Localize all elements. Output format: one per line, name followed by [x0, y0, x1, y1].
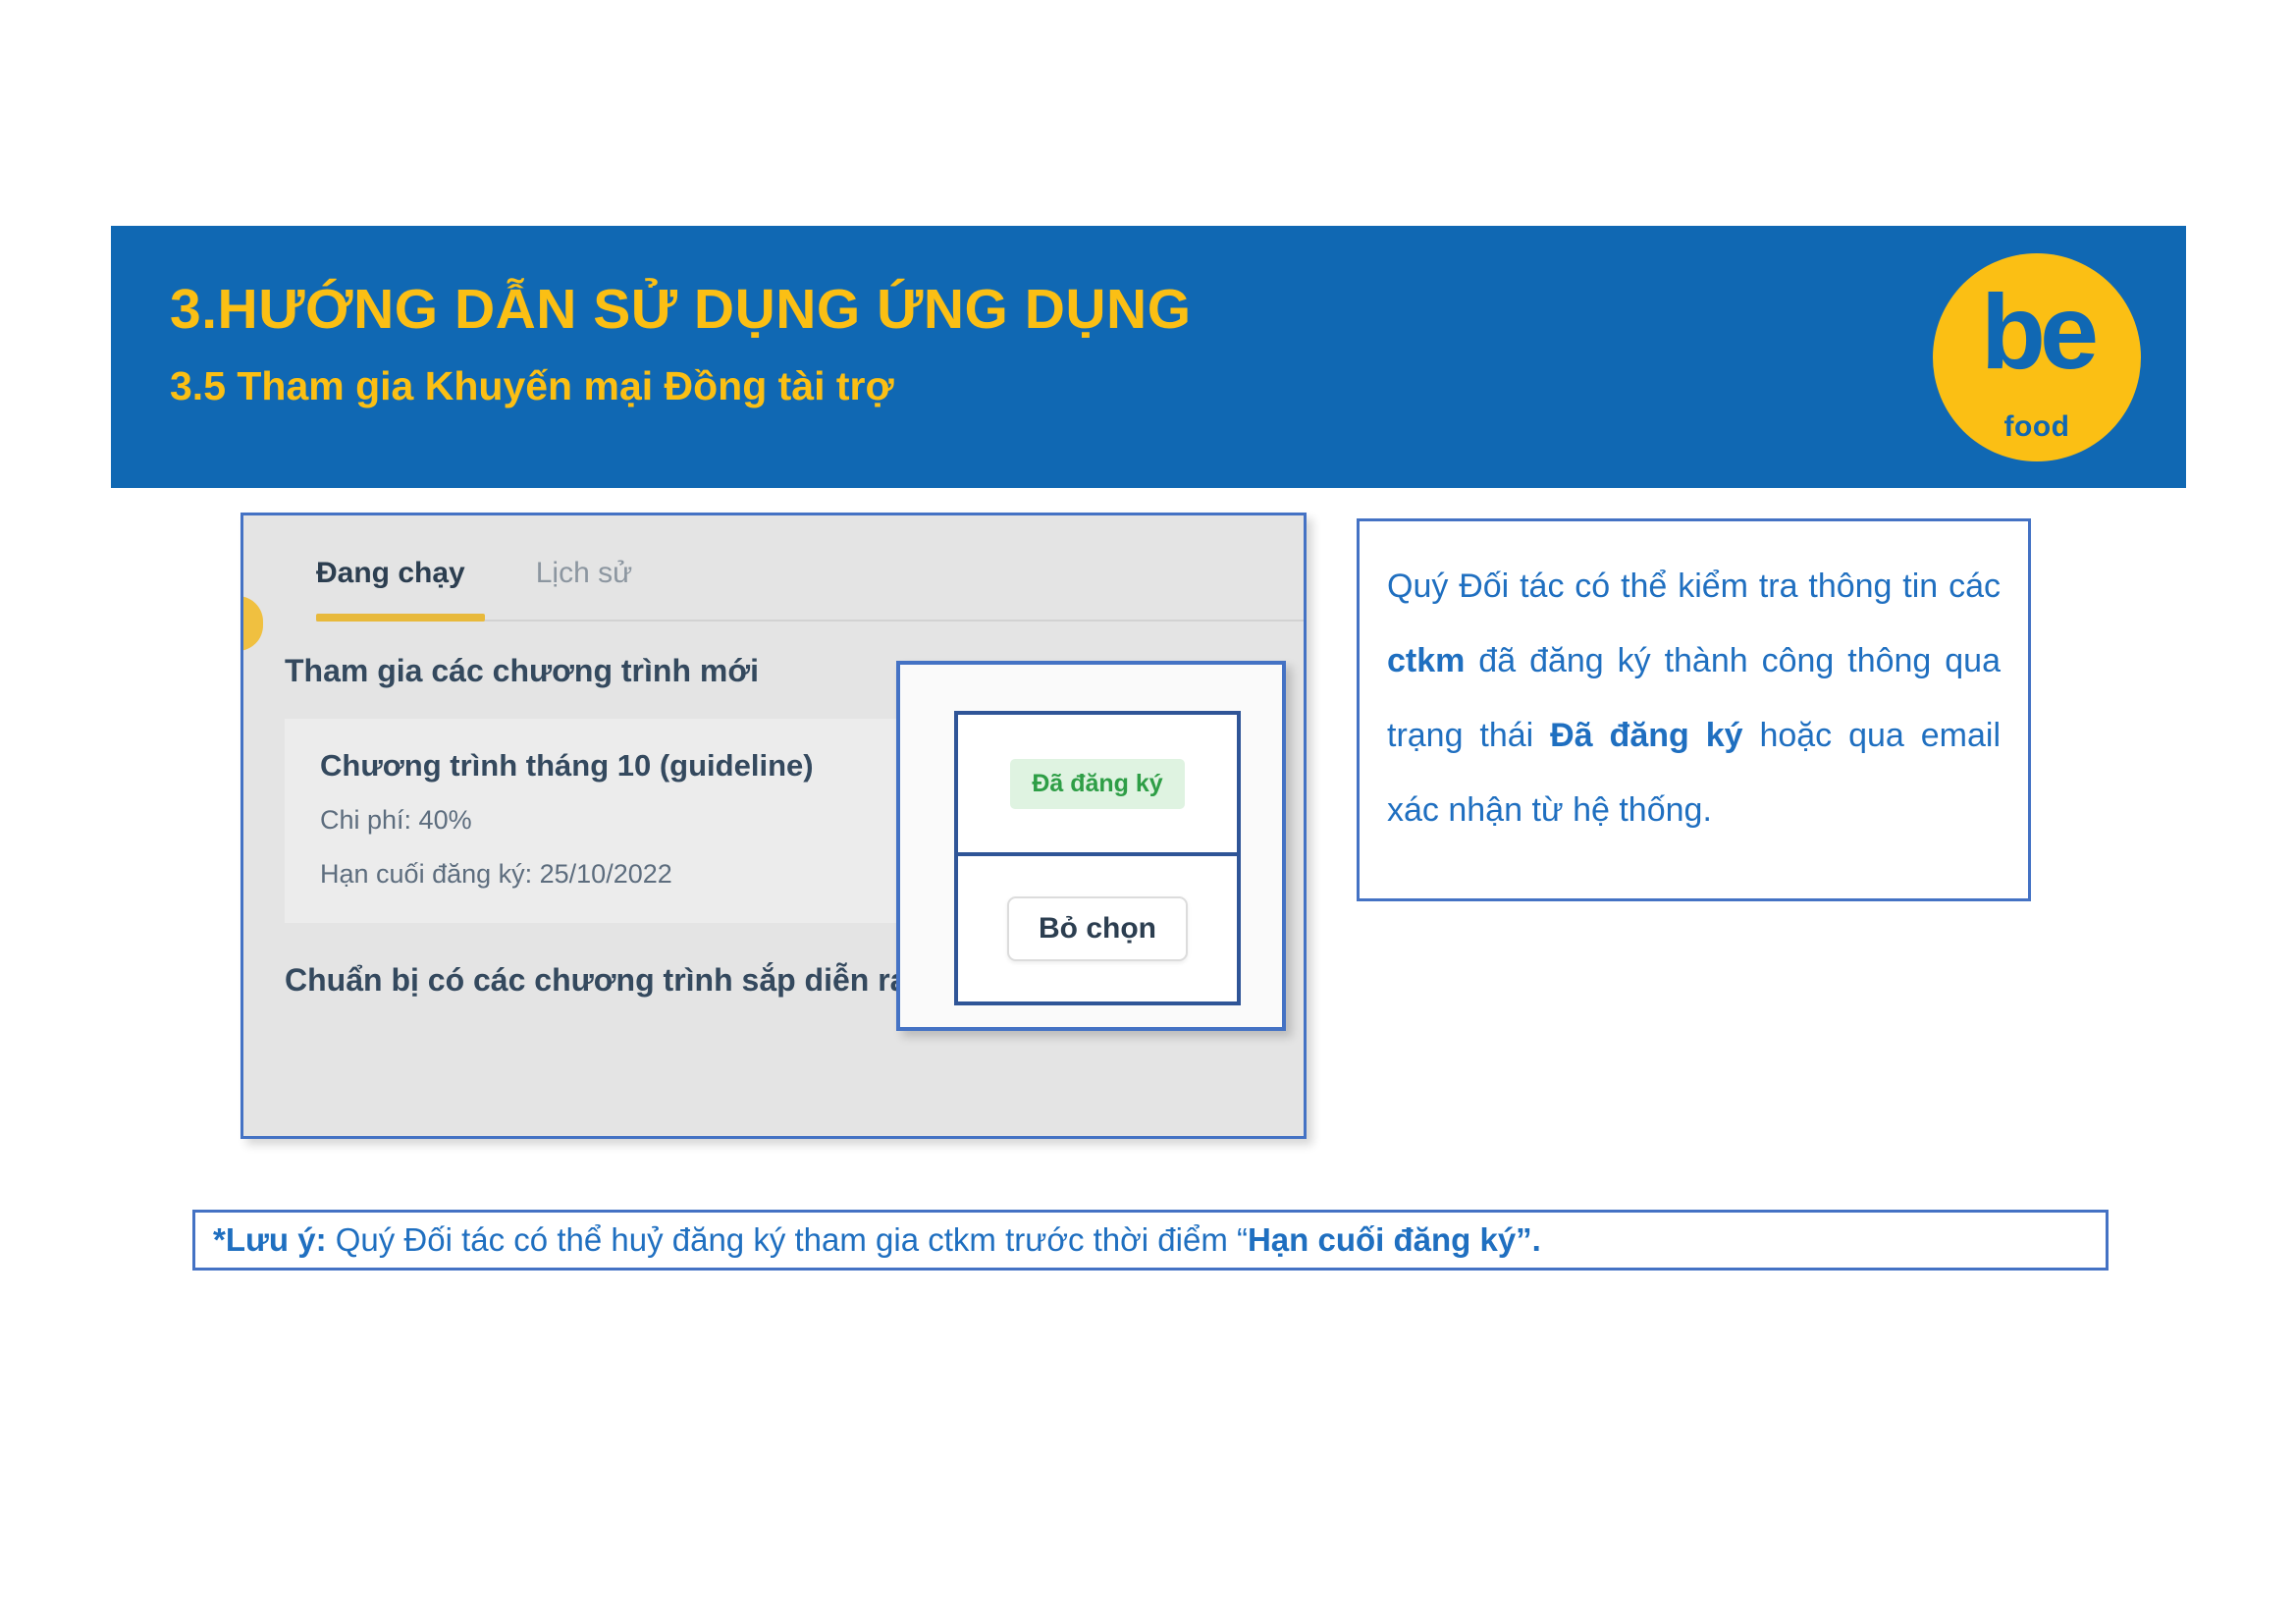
program-deadline: Hạn cuối đăng ký: 25/10/2022 [320, 859, 672, 890]
info-callout-box: Quý Đối tác có thể kiểm tra thông tin cá… [1357, 518, 2031, 901]
note-box: *Lưu ý: Quý Đối tác có thể huỷ đăng ký t… [192, 1210, 2109, 1271]
info-bold-ctkm: ctkm [1387, 642, 1465, 679]
status-badge: Đã đăng ký [1010, 759, 1184, 809]
program-cost: Chi phí: 40% [320, 805, 472, 836]
logo-food-wordmark: food [1933, 410, 2141, 444]
callout-overlay: Đã đăng ký Bỏ chọn [896, 661, 1286, 1031]
section-heading-upcoming-programs: Chuẩn bị có các chương trình sắp diễn ra [285, 962, 907, 999]
tab-active-underline [316, 614, 485, 622]
info-part-1: Quý Đối tác có thể kiểm tra thông tin cá… [1387, 568, 2001, 605]
tab-lich-su[interactable]: Lịch sử [536, 557, 632, 590]
header-band: 3.HƯỚNG DẪN SỬ DỤNG ỨNG DỤNG 3.5 Tham gi… [111, 226, 2186, 488]
callout-inner: Đã đăng ký Bỏ chọn [954, 711, 1241, 1005]
note-text: *Lưu ý: Quý Đối tác có thể huỷ đăng ký t… [213, 1221, 1541, 1259]
logo-be-wordmark: be [1933, 279, 2141, 385]
tab-dang-chay[interactable]: Đang chạy [316, 557, 465, 590]
info-callout-text: Quý Đối tác có thể kiểm tra thông tin cá… [1387, 549, 2001, 847]
note-body: Quý Đối tác có thể huỷ đăng ký tham gia … [327, 1221, 1248, 1258]
section-heading-new-programs: Tham gia các chương trình mới [285, 653, 759, 689]
deselect-button[interactable]: Bỏ chọn [1007, 896, 1188, 961]
info-bold-status: Đã đăng ký [1550, 717, 1742, 754]
be-food-logo: be food [1933, 253, 2141, 461]
note-prefix: *Lưu ý: [213, 1221, 327, 1258]
program-title: Chương trình tháng 10 (guideline) [320, 748, 814, 784]
tab-bar: Đang chạy Lịch sử [316, 557, 632, 590]
scroll-indicator-pill [240, 596, 263, 651]
note-bold-deadline: Hạn cuối đăng ký”. [1248, 1221, 1541, 1258]
action-cell: Bỏ chọn [954, 856, 1241, 1005]
page-subtitle: 3.5 Tham gia Khuyến mại Đồng tài trợ [170, 363, 894, 409]
status-cell: Đã đăng ký [954, 711, 1241, 856]
page-title: 3.HƯỚNG DẪN SỬ DỤNG ỨNG DỤNG [170, 277, 1192, 342]
